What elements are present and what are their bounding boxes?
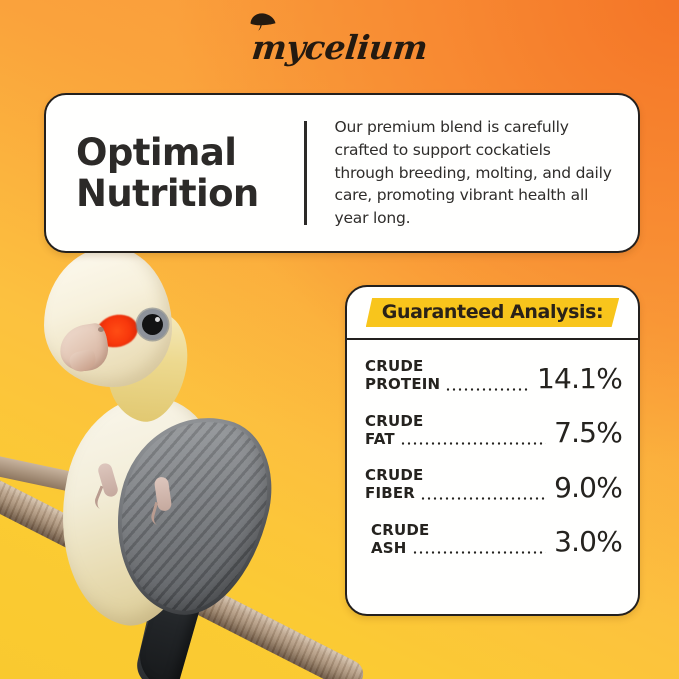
analysis-label-line1: CRUDE [365, 412, 550, 430]
perch-branch [0, 473, 368, 679]
analysis-title-highlight: Guaranteed Analysis: [366, 298, 619, 327]
page-title: Optimal Nutrition [76, 132, 259, 215]
analysis-label-line1: CRUDE [365, 357, 533, 375]
analysis-row-value: 14.1% [537, 365, 622, 394]
intro-card: Optimal Nutrition Our premium blend is c… [44, 93, 640, 253]
analysis-row-label: CRUDE ASH [365, 521, 550, 558]
brand-logo: mycelium [0, 18, 679, 76]
bird-claw-front [92, 486, 111, 511]
leader-dots [445, 388, 529, 391]
bird-belly [40, 382, 235, 638]
analysis-row: CRUDE FAT 7.5% [365, 412, 622, 449]
analysis-label-line2: ASH [371, 539, 407, 557]
analysis-row-list: CRUDE PROTEIN 14.1% CRUDE FAT 7.5% [347, 340, 638, 567]
leader-dots [400, 442, 546, 445]
analysis-label-line1: CRUDE [365, 466, 550, 484]
analysis-row: CRUDE ASH 3.0% [365, 521, 622, 558]
bird-cheek-patch [93, 310, 141, 351]
intro-title-line2: Nutrition [76, 172, 259, 215]
branch-stub [0, 451, 91, 496]
analysis-label-line1: CRUDE [371, 521, 550, 539]
bird-tail [132, 439, 245, 679]
guaranteed-analysis-card: Guaranteed Analysis: CRUDE PROTEIN 14.1%… [345, 285, 640, 616]
bird-foot-front [97, 462, 120, 499]
analysis-row-label: CRUDE FAT [365, 412, 550, 449]
bird-eye [137, 309, 168, 340]
analysis-label-line2: FIBER [365, 484, 415, 502]
brand-wordmark: mycelium [250, 28, 429, 67]
product-infographic: mycelium [0, 0, 679, 679]
analysis-header: Guaranteed Analysis: [347, 287, 638, 340]
bird-nostril [98, 327, 104, 332]
bird-foot-back [154, 476, 173, 512]
bird-claw-back [149, 502, 167, 526]
analysis-row-label: CRUDE FIBER [365, 466, 550, 503]
intro-body-text: Our premium blend is carefully crafted t… [335, 116, 613, 230]
analysis-row: CRUDE FIBER 9.0% [365, 466, 622, 503]
bird-beak [57, 322, 111, 374]
logo-lockup: mycelium [252, 28, 427, 67]
analysis-label-line2: FAT [365, 430, 395, 448]
intro-body-area: Our premium blend is carefully crafted t… [307, 95, 639, 251]
analysis-row-value: 3.0% [554, 528, 622, 557]
analysis-row: CRUDE PROTEIN 14.1% [365, 357, 622, 394]
leader-dots [420, 497, 546, 500]
bird-tail-under [133, 450, 216, 679]
analysis-label-line2: PROTEIN [365, 375, 440, 393]
bird-beak-lower [68, 348, 98, 374]
bird-wing [97, 401, 286, 629]
analysis-title: Guaranteed Analysis: [382, 301, 603, 323]
analysis-row-value: 9.0% [554, 474, 622, 503]
bird-head [44, 247, 172, 387]
leader-dots [412, 551, 546, 554]
intro-title-line1: Optimal [76, 131, 236, 174]
analysis-row-label: CRUDE PROTEIN [365, 357, 533, 394]
analysis-row-value: 7.5% [554, 419, 622, 448]
bird-nape [96, 303, 198, 429]
intro-title-area: Optimal Nutrition [46, 95, 304, 251]
